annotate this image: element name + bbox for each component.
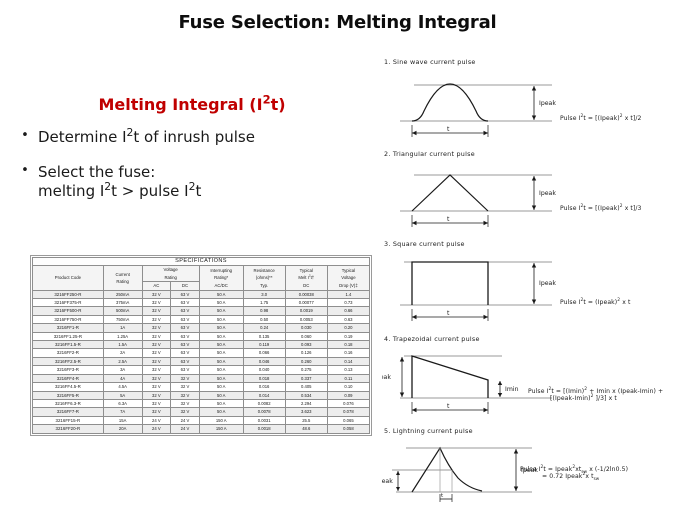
table-cell: 32 V: [142, 324, 171, 332]
slide-root: Fuse Selection: Melting Integral Melting…: [0, 0, 675, 506]
table-cell: 250mA: [103, 290, 142, 298]
table-cell: 32 V: [171, 408, 200, 416]
table-cell: 50 A: [199, 307, 243, 315]
table-cell: 50 A: [199, 391, 243, 399]
table-cell: 0.135: [243, 332, 285, 340]
table-row: 3216FF1.5-R1.5A32 V63 V50 A0.1190.0930.1…: [33, 341, 370, 349]
table-cell: 0.50: [243, 315, 285, 323]
table-cell: 0.093: [285, 341, 327, 349]
table-header-row: Product Code CurrentRating VoltageRating…: [33, 266, 370, 282]
formula-text-line1: Pulse I2t = Ipeak2xtsw x (-1/2ln0.5): [520, 466, 628, 473]
figure-square: 3. Square current pulse Ipeak t: [382, 240, 672, 335]
table-cell: 63 V: [171, 349, 200, 357]
table-cell: 32 V: [171, 383, 200, 391]
table-cell: 3.623: [285, 408, 327, 416]
cell-product-code: 3216FF4.5-R: [33, 383, 104, 391]
table-row: 3216FF5-R5A32 V32 V50 A0.0140.5340.09: [33, 391, 370, 399]
table-cell: 63 V: [171, 366, 200, 374]
figure-caption: 4. Trapezoidal current pulse: [384, 335, 672, 343]
table-cell: 24 V: [171, 425, 200, 433]
col-voltage-dc: DC: [171, 282, 200, 290]
bullet-text: Select the fuse:melting I2t > pulse I2t: [38, 163, 370, 201]
table-cell: 0.09: [327, 391, 369, 399]
table-cell: 32 V: [142, 357, 171, 365]
pulse-waveform-diagrams: 1. Sine wave current pulse Ipeak t: [382, 58, 672, 503]
table-cell: 0.040: [243, 366, 285, 374]
table-row: 3216FF20-R20A24 V24 V150 A0.001848.60.05…: [33, 425, 370, 433]
table-cell: 32 V: [142, 374, 171, 382]
table-cell: 0.00077: [285, 299, 327, 307]
formula-text: Pulse I2t = (Ipeak)2 x t: [560, 299, 630, 306]
table-cell: 50 A: [199, 399, 243, 407]
table-cell: 0.014: [243, 391, 285, 399]
table-row: 3216FF4.5-R4.5A32 V32 V50 A0.0160.4050.1…: [33, 383, 370, 391]
table-body: 3216FF250-R250mA32 V63 V50 A3.00.000381.…: [33, 290, 370, 433]
table-cell: 0.24: [243, 324, 285, 332]
table-cell: 15A: [103, 416, 142, 424]
table-cell: 50 A: [199, 332, 243, 340]
table-cell: 1.4: [327, 290, 369, 298]
col-current-rating: CurrentRating: [103, 266, 142, 290]
cell-product-code: 3216FF1-R: [33, 324, 104, 332]
table-row: 3216FF500-R500mA32 V63 V50 A0.980.00190.…: [33, 307, 370, 315]
table-cell: 2.294: [285, 399, 327, 407]
table-cell: 375mA: [103, 299, 142, 307]
figure-caption: 2. Triangular current pulse: [384, 150, 672, 158]
table-cell: 0.065: [327, 416, 369, 424]
table-cell: 500mA: [103, 307, 142, 315]
table-cell: 0.63: [327, 315, 369, 323]
table-cell: 0.11: [327, 374, 369, 382]
formula-text-line2: = 0.72 Ipeak2x tsw: [520, 473, 628, 480]
table-row: 3216FF2.5-R2.5A32 V63 V50 A0.0460.2600.1…: [33, 357, 370, 365]
triangular-wave-graphic: Ipeak t: [382, 159, 672, 237]
left-content: Melting Integral (I2t) • Determine I2t o…: [0, 95, 370, 216]
table-cell: 0.0019: [285, 307, 327, 315]
table-cell: 32 V: [142, 307, 171, 315]
cell-product-code: 3216FF750-R: [33, 315, 104, 323]
time-label: t: [447, 403, 450, 410]
table-cell: 50 A: [199, 383, 243, 391]
table-cell: 0.00038: [285, 290, 327, 298]
figure-caption: 3. Square current pulse: [384, 240, 672, 248]
table-cell: 3.0: [243, 290, 285, 298]
formula-text: Pulse I2t = [(Ipeak)2 x t]/2: [560, 115, 642, 122]
table-cell: 63 V: [171, 299, 200, 307]
figure-lightning: 5. Lightning current pulse Ipeak: [382, 427, 672, 507]
table-cell: 0.046: [243, 357, 285, 365]
table-cell: 0.534: [285, 391, 327, 399]
figure-caption: 5. Lightning current pulse: [384, 427, 672, 435]
table-cell: 0.73: [327, 299, 369, 307]
col-resistance: Resistance(ohms)**Typ.: [243, 266, 285, 290]
table-cell: 0.260: [285, 357, 327, 365]
table-cell: 32 V: [142, 332, 171, 340]
cell-product-code: 3216FF4-R: [33, 374, 104, 382]
table-cell: 32 V: [142, 391, 171, 399]
table-cell: 0.13: [327, 366, 369, 374]
time-label: t: [447, 216, 450, 223]
formula-trapezoidal: Pulse I2t = [(Imin)2 + Imin x (Ipeak-Imi…: [528, 388, 663, 402]
time-label: t: [447, 126, 450, 133]
figure-trapezoidal: 4. Trapezoidal current pulse Ipeak Imin: [382, 335, 672, 427]
table-cell: 63 V: [171, 341, 200, 349]
cell-product-code: 3216FF1.25-R: [33, 332, 104, 340]
table-cell: 0.058: [327, 425, 369, 433]
table-cell: 32 V: [171, 399, 200, 407]
table-cell: 0.126: [285, 349, 327, 357]
col-product-code: Product Code: [33, 266, 104, 290]
half-ipeak-label: 0.5Ipeak: [382, 478, 393, 485]
table-cell: 0.275: [285, 366, 327, 374]
table-row: 3216FF15-R15A24 V24 V150 A0.003125.50.06…: [33, 416, 370, 424]
table-row: 3216FF3-R3A32 V63 V50 A0.0400.2750.13: [33, 366, 370, 374]
specifications-table: SPECIFICATIONS Product Code CurrentRatin…: [32, 257, 370, 434]
table-cell: 50 A: [199, 341, 243, 349]
table-cell: 24 V: [142, 416, 171, 424]
table-cell: 48.6: [285, 425, 327, 433]
bullet-marker-icon: •: [0, 128, 38, 147]
table-cell: 32 V: [142, 299, 171, 307]
square-wave-graphic: Ipeak t: [382, 249, 672, 332]
table-cell: 0.405: [285, 383, 327, 391]
table-cell: 4.5A: [103, 383, 142, 391]
table-cell: 0.14: [327, 357, 369, 365]
table-cell: 32 V: [142, 315, 171, 323]
table-row: 3216FF4-R4A32 V32 V50 A0.0180.3370.11: [33, 374, 370, 382]
col-voltage-ac: AC: [142, 282, 171, 290]
table-cell: 0.20: [327, 324, 369, 332]
table-cell: 50 A: [199, 349, 243, 357]
table-cell: 50 A: [199, 408, 243, 416]
table-cell: 32 V: [142, 341, 171, 349]
figure-triangular: 2. Triangular current pulse Ipeak t: [382, 150, 672, 240]
table-cell: 0.10: [327, 383, 369, 391]
table-cell: 2.5A: [103, 357, 142, 365]
page-title: Fuse Selection: Melting Integral: [0, 12, 675, 33]
table-cell: 63 V: [171, 315, 200, 323]
cell-product-code: 3216FF7-R: [33, 408, 104, 416]
table-cell: 63 V: [171, 357, 200, 365]
table-cell: 0.078: [327, 408, 369, 416]
table-cell: 32 V: [142, 408, 171, 416]
cell-product-code: 3216FF2.5-R: [33, 357, 104, 365]
table-cell: 32 V: [142, 366, 171, 374]
table-cell: 50 A: [199, 357, 243, 365]
table-cell: 3A: [103, 366, 142, 374]
figure-caption: 1. Sine wave current pulse: [384, 58, 672, 66]
cell-product-code: 3216FF6.3-R: [33, 399, 104, 407]
bullet-marker-icon: •: [0, 163, 38, 201]
table-cell: 1A: [103, 324, 142, 332]
table-row: 3216FF1-R1A32 V63 V50 A0.240.0300.20: [33, 324, 370, 332]
table-cell: 0.016: [243, 383, 285, 391]
table-cell: 2A: [103, 349, 142, 357]
table-cell: 1.5A: [103, 341, 142, 349]
table-cell: 0.0078: [243, 408, 285, 416]
table-row: 3216FF2-R2A32 V63 V50 A0.0660.1260.16: [33, 349, 370, 357]
table-cell: 7A: [103, 408, 142, 416]
col-melt-i2t: TypicalMelt I2t†DC: [285, 266, 327, 290]
table-cell: 63 V: [171, 324, 200, 332]
table-cell: 63 V: [171, 332, 200, 340]
cell-product-code: 3216FF2-R: [33, 349, 104, 357]
time-label: t: [447, 310, 450, 317]
cell-product-code: 3216FF20-R: [33, 425, 104, 433]
table-cell: 0.030: [285, 324, 327, 332]
table-cell: 0.018: [243, 374, 285, 382]
col-interrupting-rating: InterruptingRating*AC/DC: [199, 266, 243, 290]
table-cell: 32 V: [142, 399, 171, 407]
table-cell: 50 A: [199, 324, 243, 332]
formula-lightning: Pulse I2t = Ipeak2xtsw x (-1/2ln0.5) = 0…: [520, 466, 628, 480]
formula-square: Pulse I2t = (Ipeak)2 x t: [560, 299, 630, 306]
table-cell: 4A: [103, 374, 142, 382]
table-cell: 0.0053: [285, 315, 327, 323]
table-cell: 63 V: [171, 307, 200, 315]
table-cell: 0.0031: [243, 416, 285, 424]
table-cell: 20A: [103, 425, 142, 433]
formula-text-line1: Pulse I2t = [(Imin)2 + Imin x (Ipeak-Imi…: [528, 388, 663, 395]
table-cell: 150 A: [199, 425, 243, 433]
table-row: 3216FF375-R375mA32 V63 V50 A1.750.000770…: [33, 299, 370, 307]
formula-sine: Pulse I2t = [(Ipeak)2 x t]/2: [560, 115, 642, 122]
col-voltage-drop: TypicalVoltageDrop (V)‡: [327, 266, 369, 290]
subheading-text: Melting Integral (I2t): [98, 95, 285, 114]
table-cell: 0.119: [243, 341, 285, 349]
table-row: 3216FF6.3-R6.3A32 V32 V50 A0.00822.2940.…: [33, 399, 370, 407]
time-label: t: [441, 493, 444, 499]
table-title: SPECIFICATIONS: [33, 258, 370, 266]
ipeak-label: Ipeak: [539, 100, 556, 107]
table-cell: 0.19: [327, 332, 369, 340]
figure-sine-wave: 1. Sine wave current pulse Ipeak t: [382, 58, 672, 150]
table-cell: 50 A: [199, 290, 243, 298]
table-cell: 32 V: [142, 383, 171, 391]
trapezoidal-wave-graphic: Ipeak Imin t: [382, 344, 672, 424]
table-cell: 1.25A: [103, 332, 142, 340]
table-cell: 0.0082: [243, 399, 285, 407]
section-subheading: Melting Integral (I2t): [0, 95, 370, 114]
table-row: 3216FF750-R750mA32 V63 V50 A0.500.00530.…: [33, 315, 370, 323]
sine-wave-graphic: Ipeak t: [382, 67, 672, 147]
cell-product-code: 3216FF15-R: [33, 416, 104, 424]
bullet-list: • Determine I2t of inrush pulse • Select…: [0, 128, 370, 200]
table-cell: 0.076: [327, 399, 369, 407]
table-cell: 50 A: [199, 299, 243, 307]
table-title-row: SPECIFICATIONS: [33, 258, 370, 266]
cell-product-code: 3216FF3-R: [33, 366, 104, 374]
table-cell: 63 V: [171, 290, 200, 298]
table-cell: 50 A: [199, 374, 243, 382]
table-cell: 32 V: [171, 391, 200, 399]
table-row: 3216FF1.25-R1.25A32 V63 V50 A0.1350.0600…: [33, 332, 370, 340]
table-cell: 0.98: [243, 307, 285, 315]
table-cell: 0.337: [285, 374, 327, 382]
table-cell: 24 V: [142, 425, 171, 433]
ipeak-label: Ipeak: [539, 280, 556, 287]
ipeak-label: Ipeak: [382, 374, 391, 381]
formula-text-line2: [(Ipeak-Imin)2 ]/3] x t: [528, 395, 663, 402]
bullet-text: Determine I2t of inrush pulse: [38, 128, 370, 147]
ipeak-label: Ipeak: [539, 190, 556, 197]
table-cell: 0.16: [327, 349, 369, 357]
table-cell: 50 A: [199, 315, 243, 323]
list-item: • Determine I2t of inrush pulse: [0, 128, 370, 147]
table-cell: 5A: [103, 391, 142, 399]
table-cell: 32 V: [142, 349, 171, 357]
formula-text: Pulse I2t = [(Ipeak)2 x t]/3: [560, 205, 642, 212]
cell-product-code: 3216FF375-R: [33, 299, 104, 307]
table-cell: 0.0018: [243, 425, 285, 433]
table-cell: 0.060: [285, 332, 327, 340]
list-item: • Select the fuse:melting I2t > pulse I2…: [0, 163, 370, 201]
table-cell: 25.5: [285, 416, 327, 424]
imin-label: Imin: [505, 386, 519, 393]
cell-product-code: 3216FF1.5-R: [33, 341, 104, 349]
cell-product-code: 3216FF250-R: [33, 290, 104, 298]
table-cell: 150 A: [199, 416, 243, 424]
table-cell: 24 V: [171, 416, 200, 424]
table-cell: 50 A: [199, 366, 243, 374]
cell-product-code: 3216FF500-R: [33, 307, 104, 315]
specifications-table-image: SPECIFICATIONS Product Code CurrentRatin…: [30, 255, 372, 436]
table-cell: 32 V: [142, 290, 171, 298]
table-row: 3216FF250-R250mA32 V63 V50 A3.00.000381.…: [33, 290, 370, 298]
cell-product-code: 3216FF5-R: [33, 391, 104, 399]
table-cell: 6.3A: [103, 399, 142, 407]
table-cell: 0.66: [327, 307, 369, 315]
table-cell: 1.75: [243, 299, 285, 307]
col-voltage-rating: VoltageRating: [142, 266, 199, 282]
table-cell: 0.066: [243, 349, 285, 357]
table-cell: 0.18: [327, 341, 369, 349]
formula-triangular: Pulse I2t = [(Ipeak)2 x t]/3: [560, 205, 642, 212]
table-row: 3216FF7-R7A32 V32 V50 A0.00783.6230.078: [33, 408, 370, 416]
table-cell: 32 V: [171, 374, 200, 382]
table-cell: 750mA: [103, 315, 142, 323]
